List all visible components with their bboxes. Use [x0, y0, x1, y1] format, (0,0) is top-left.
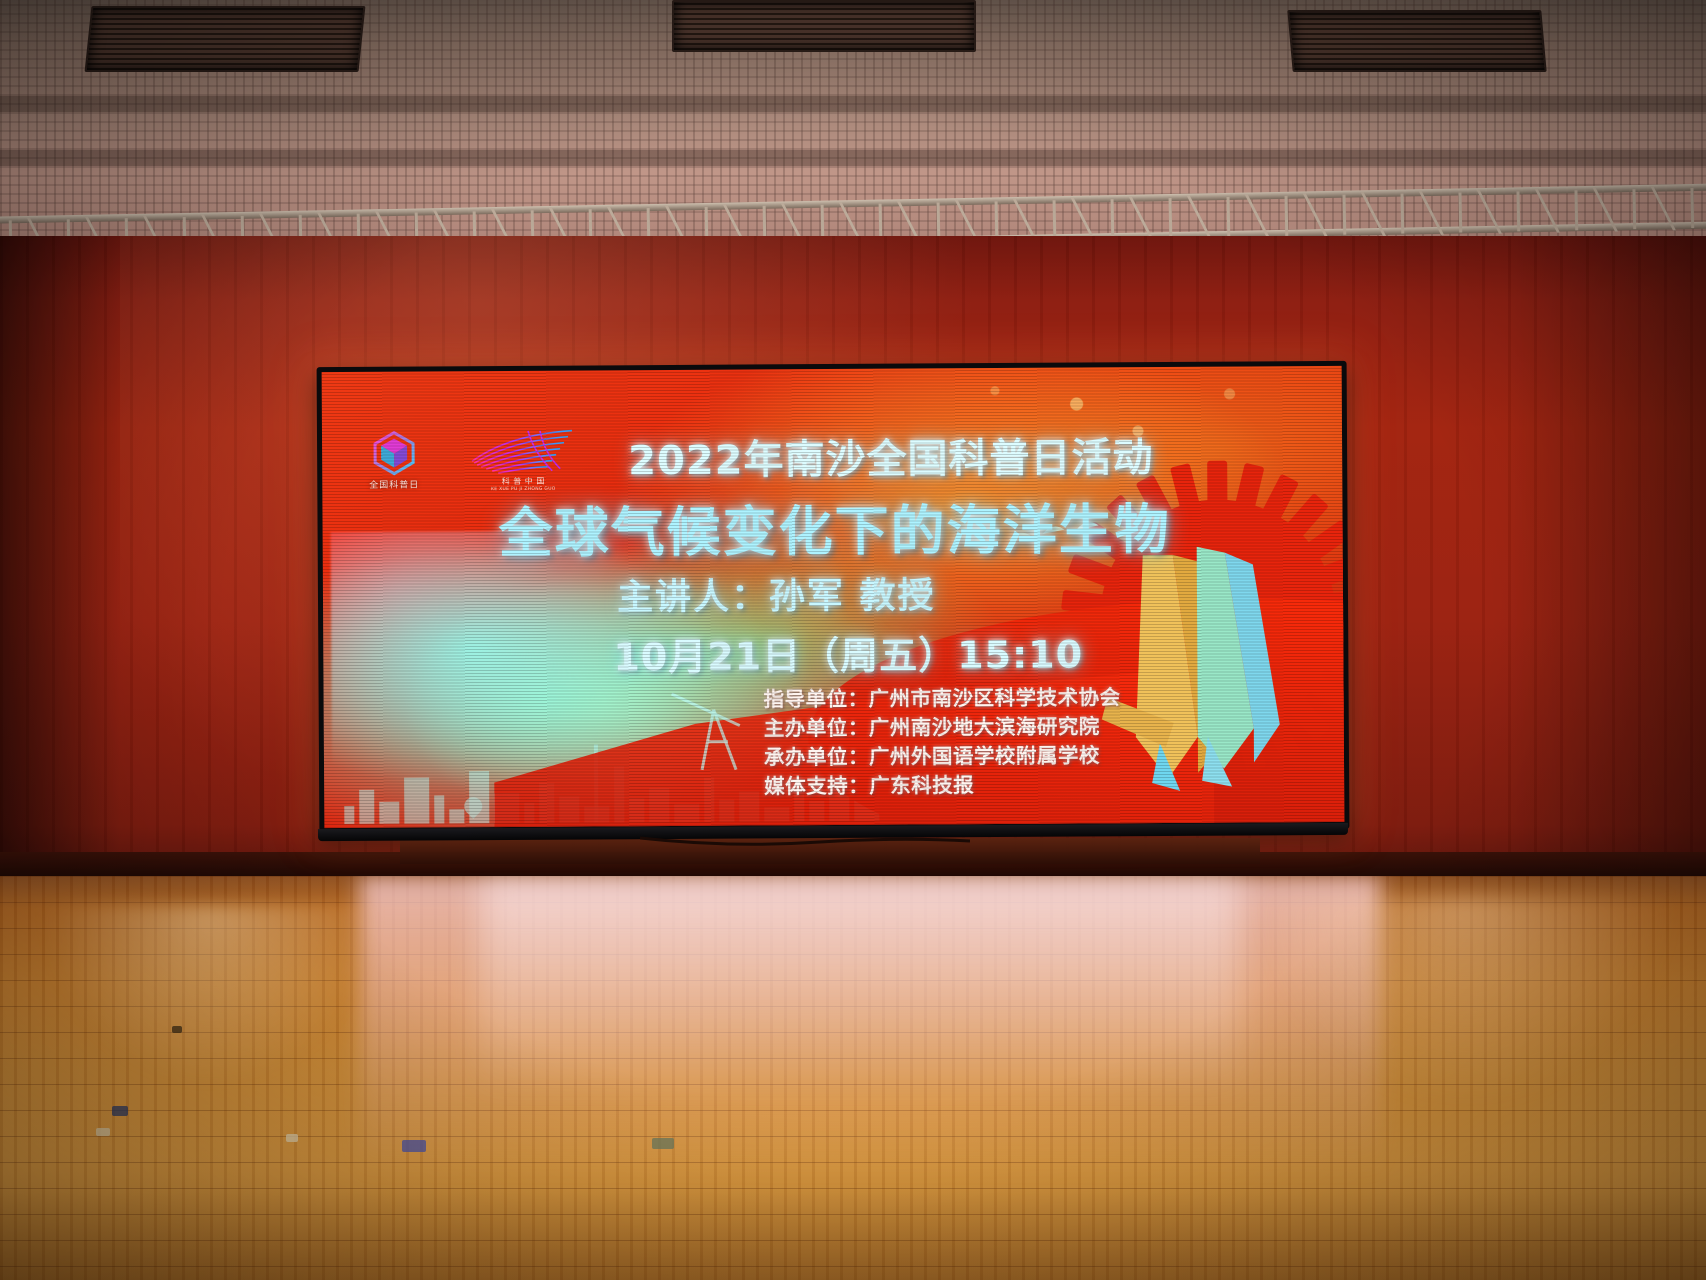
ceiling-band	[0, 96, 1706, 112]
floor-bottom-shade	[0, 1190, 1706, 1280]
wall-shadow-left	[0, 236, 120, 876]
floor-marker	[652, 1138, 674, 1149]
wall-shadow-right	[1506, 236, 1706, 876]
floor-marker	[96, 1128, 110, 1136]
floor-marker	[286, 1134, 298, 1142]
organization-line: 指导单位：广州市南沙区科学技术协会	[764, 683, 1121, 714]
auditorium-scene: 全国科普日	[0, 0, 1706, 1280]
floor-marker	[112, 1106, 128, 1116]
screen-reflection-core	[480, 876, 1240, 1096]
organization-line: 媒体支持：广东科技报	[764, 771, 1121, 802]
poster-main-title: 全球气候变化下的海洋生物	[498, 485, 1170, 568]
floor-marker	[402, 1140, 426, 1152]
wooden-floor	[0, 876, 1706, 1280]
ceiling-vent	[672, 0, 976, 52]
ceiling-vent	[85, 6, 366, 72]
screen-cable	[640, 836, 970, 846]
date-line: 10月21日（周五）15:10	[613, 623, 1083, 681]
event-line: 2022年南沙全国科普日活动	[628, 425, 1154, 486]
organization-list: 指导单位：广州市南沙区科学技术协会 主办单位：广州南沙地大滨海研究院 承办单位：…	[764, 683, 1122, 802]
poster-text-block: 2022年南沙全国科普日活动 全球气候变化下的海洋生物 主讲人：孙军 教授 10…	[322, 366, 1345, 828]
floor-marker	[172, 1026, 182, 1033]
led-screen-frame[interactable]: 全国科普日	[317, 361, 1350, 835]
organization-line: 主办单位：广州南沙地大滨海研究院	[764, 712, 1121, 743]
organization-line: 承办单位：广州外国语学校附属学校	[764, 741, 1121, 772]
floor-glare-right	[1256, 896, 1676, 1106]
speaker-line: 主讲人：孙军 教授	[617, 566, 936, 620]
ceiling-band	[0, 150, 1706, 166]
led-screen-display: 全国科普日	[322, 366, 1345, 828]
ceiling-vent	[1287, 10, 1546, 72]
floor-glare-left	[40, 906, 380, 1086]
